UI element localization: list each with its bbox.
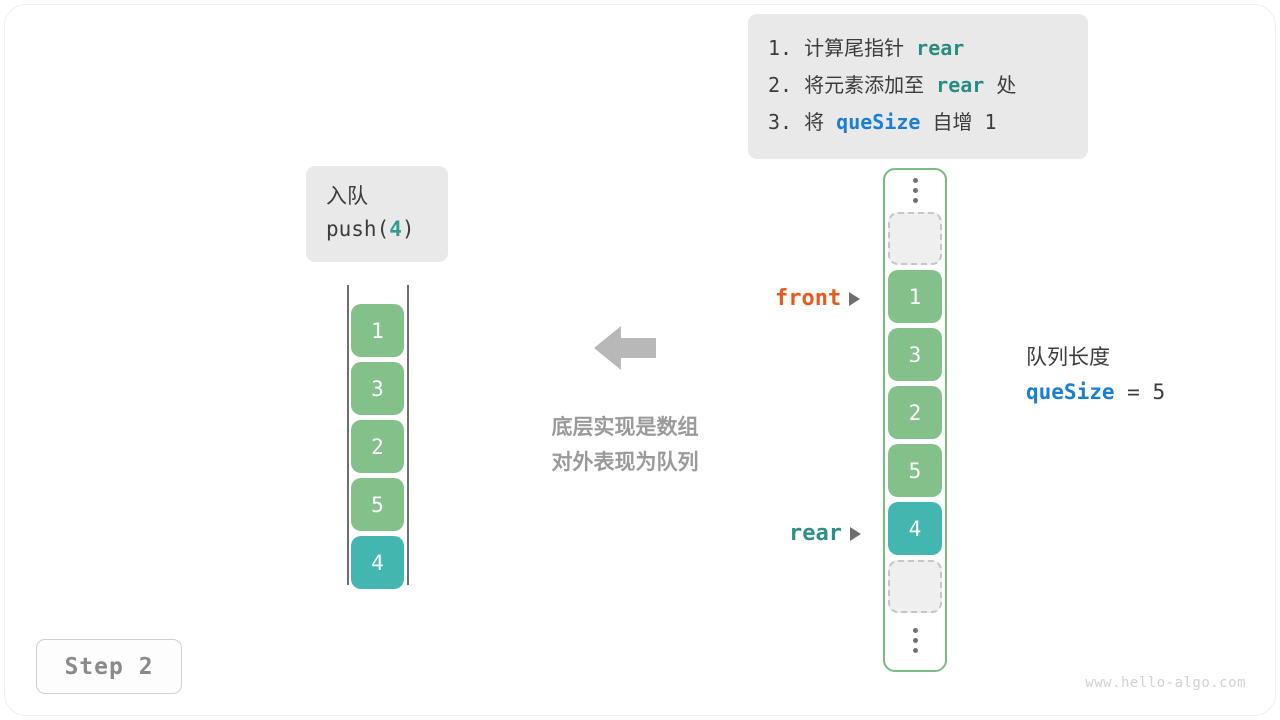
instruction-line-3: 3. 将 queSize 自增 1 — [768, 104, 1068, 141]
queue-size-equals: = — [1115, 380, 1153, 404]
instruction-2-code: rear — [936, 73, 984, 97]
array-slot: 5 — [888, 444, 942, 497]
rear-pointer: rear — [789, 521, 861, 546]
logical-queue-cells: 1 3 2 5 4 — [351, 304, 404, 594]
instruction-2-text: 将元素添加至 — [804, 73, 936, 97]
ellipsis-bottom-icon — [888, 618, 942, 662]
logical-queue-cell: 3 — [351, 362, 404, 415]
logical-queue-rail-right — [407, 285, 409, 585]
push-code-value: 4 — [389, 217, 402, 241]
queue-size-label: 队列长度 — [1026, 341, 1165, 375]
front-pointer: front — [775, 286, 860, 311]
ellipsis-top-icon — [888, 168, 942, 212]
front-pointer-arrow-icon — [849, 292, 860, 306]
instruction-2-index: 2. — [768, 73, 804, 97]
instruction-box: 1. 计算尾指针 rear 2. 将元素添加至 rear 处 3. 将 queS… — [748, 14, 1088, 159]
push-operation-box: 入队 push(4) — [306, 166, 448, 262]
instruction-1-text: 计算尾指针 — [804, 36, 916, 60]
left-arrow-icon — [594, 322, 656, 374]
step-badge: Step 2 — [36, 639, 182, 694]
logical-queue-cell-highlight: 4 — [351, 536, 404, 589]
instruction-line-1: 1. 计算尾指针 rear — [768, 30, 1068, 67]
array-slot-empty — [888, 212, 942, 265]
array-slot-empty — [888, 560, 942, 613]
logical-queue-rail-left — [347, 285, 349, 585]
push-code-prefix: push( — [326, 217, 389, 241]
watermark: www.hello-algo.com — [1085, 675, 1246, 691]
push-operation-code: push(4) — [326, 213, 430, 246]
middle-caption-line-2: 对外表现为队列 — [500, 445, 750, 480]
front-pointer-label: front — [775, 286, 841, 311]
logical-queue-cell: 1 — [351, 304, 404, 357]
array-slot-highlight: 4 — [888, 502, 942, 555]
diagram-canvas: 1. 计算尾指针 rear 2. 将元素添加至 rear 处 3. 将 queS… — [0, 0, 1280, 720]
push-operation-label: 入队 — [326, 180, 430, 213]
instruction-3-code: queSize — [836, 110, 920, 134]
array-slot: 2 — [888, 386, 942, 439]
instruction-3-post: 自增 1 — [920, 110, 996, 134]
array-slot: 1 — [888, 270, 942, 323]
instruction-1-index: 1. — [768, 36, 804, 60]
instruction-line-2: 2. 将元素添加至 rear 处 — [768, 67, 1068, 104]
physical-array-slots: 1 3 2 5 4 — [888, 168, 942, 662]
instruction-1-code: rear — [916, 36, 964, 60]
array-slot: 3 — [888, 328, 942, 381]
rear-pointer-label: rear — [789, 521, 842, 546]
queue-size-value: 5 — [1152, 380, 1165, 404]
logical-queue-cell: 2 — [351, 420, 404, 473]
middle-caption: 底层实现是数组 对外表现为队列 — [500, 410, 750, 480]
instruction-3-text: 将 — [804, 110, 836, 134]
instruction-2-post: 处 — [984, 73, 1016, 97]
queue-size-info: 队列长度 queSize = 5 — [1026, 341, 1165, 409]
queue-size-expression: queSize = 5 — [1026, 375, 1165, 409]
rear-pointer-arrow-icon — [850, 527, 861, 541]
queue-size-var: queSize — [1026, 380, 1115, 404]
push-code-suffix: ) — [402, 217, 415, 241]
instruction-3-index: 3. — [768, 110, 804, 134]
logical-queue-cell: 5 — [351, 478, 404, 531]
middle-caption-line-1: 底层实现是数组 — [500, 410, 750, 445]
